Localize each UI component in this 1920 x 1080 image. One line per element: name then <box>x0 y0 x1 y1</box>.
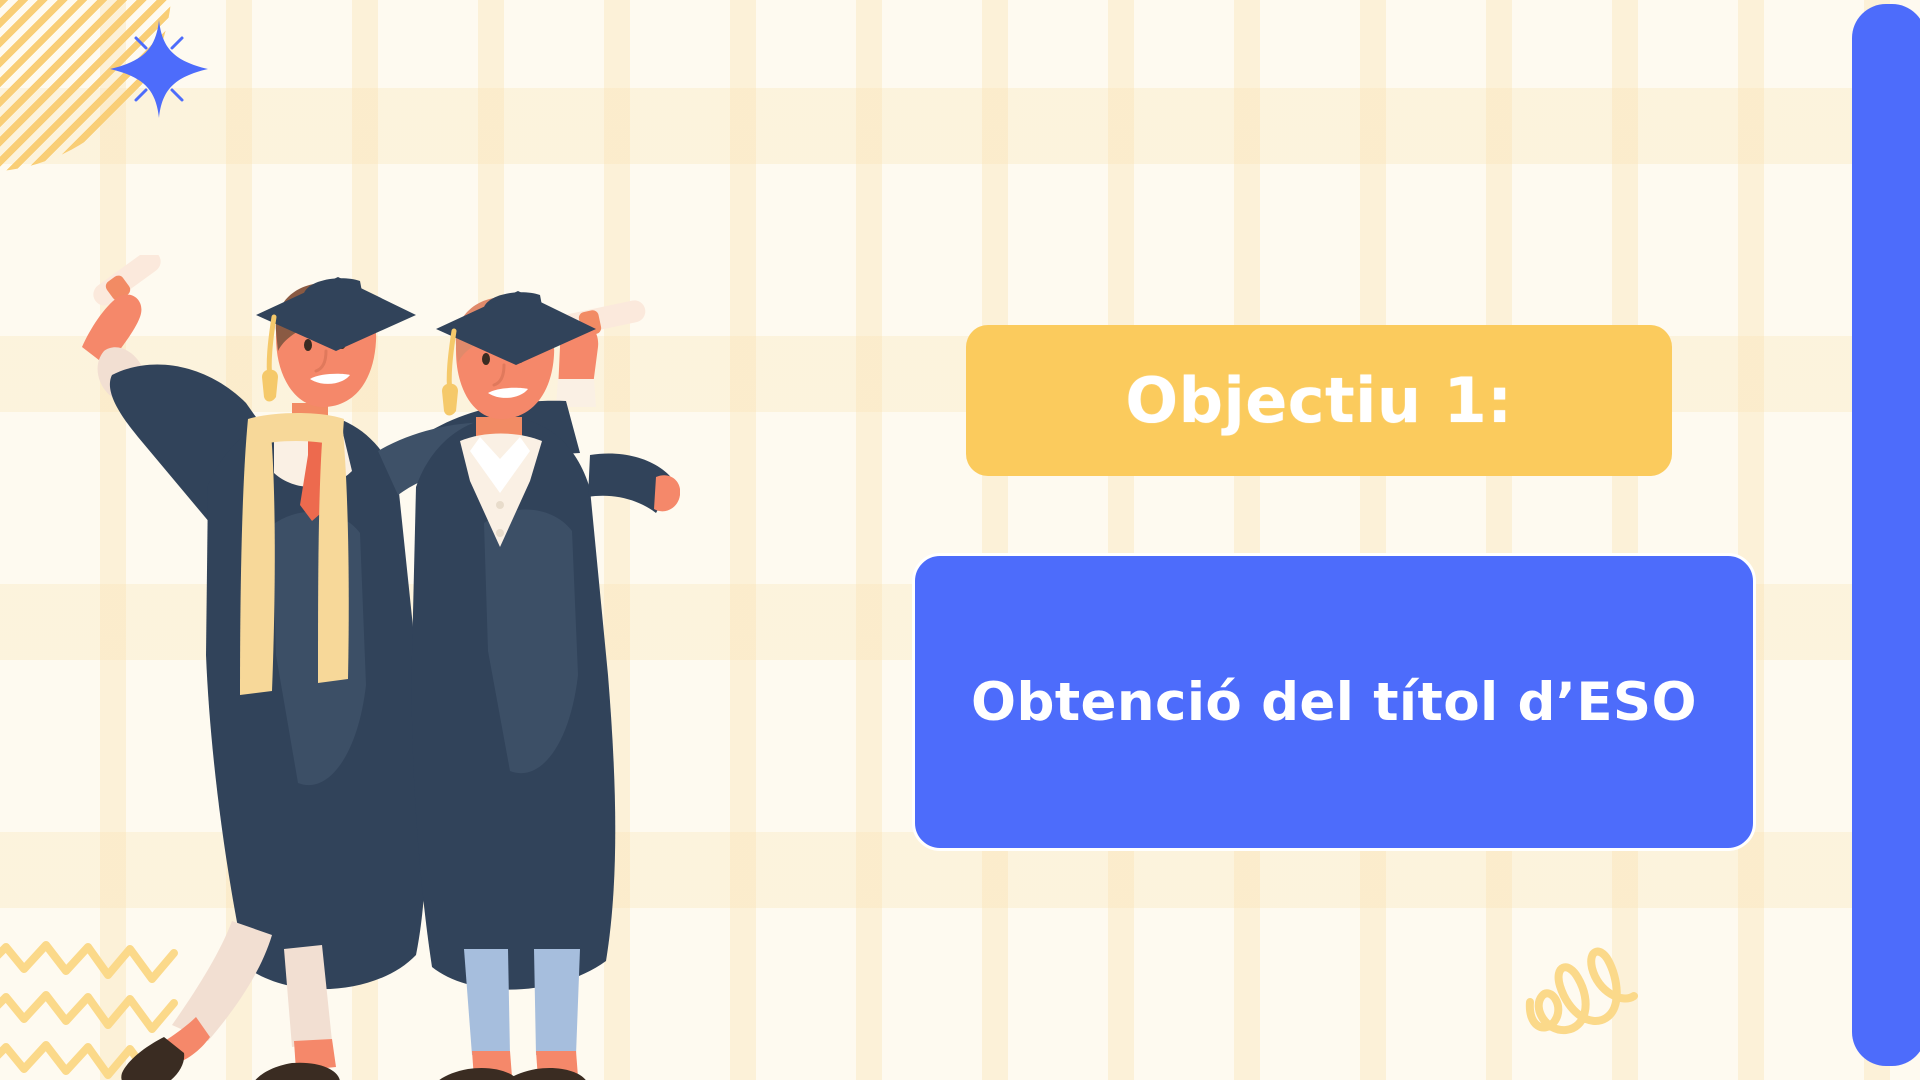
four-point-star-icon <box>104 14 214 124</box>
loop-squiggle-icon <box>1522 930 1652 1045</box>
two-graduates-illustration <box>60 255 680 1080</box>
vertical-accent-bar <box>1852 4 1920 1066</box>
objective-subtitle-card[interactable]: Obtenció del títol d’ESO <box>912 553 1756 851</box>
objective-subtitle-label: Obtenció del títol d’ESO <box>971 672 1697 733</box>
objective-title-label: Objectiu 1: <box>1125 364 1512 437</box>
sparkle-decoration <box>104 14 214 129</box>
squiggle-decoration <box>1522 930 1652 1050</box>
graduates-artwork <box>60 255 680 1080</box>
objective-title-pill[interactable]: Objectiu 1: <box>966 325 1672 476</box>
slide-canvas: Objectiu 1: Obtenció del títol d’ESO <box>0 0 1920 1080</box>
